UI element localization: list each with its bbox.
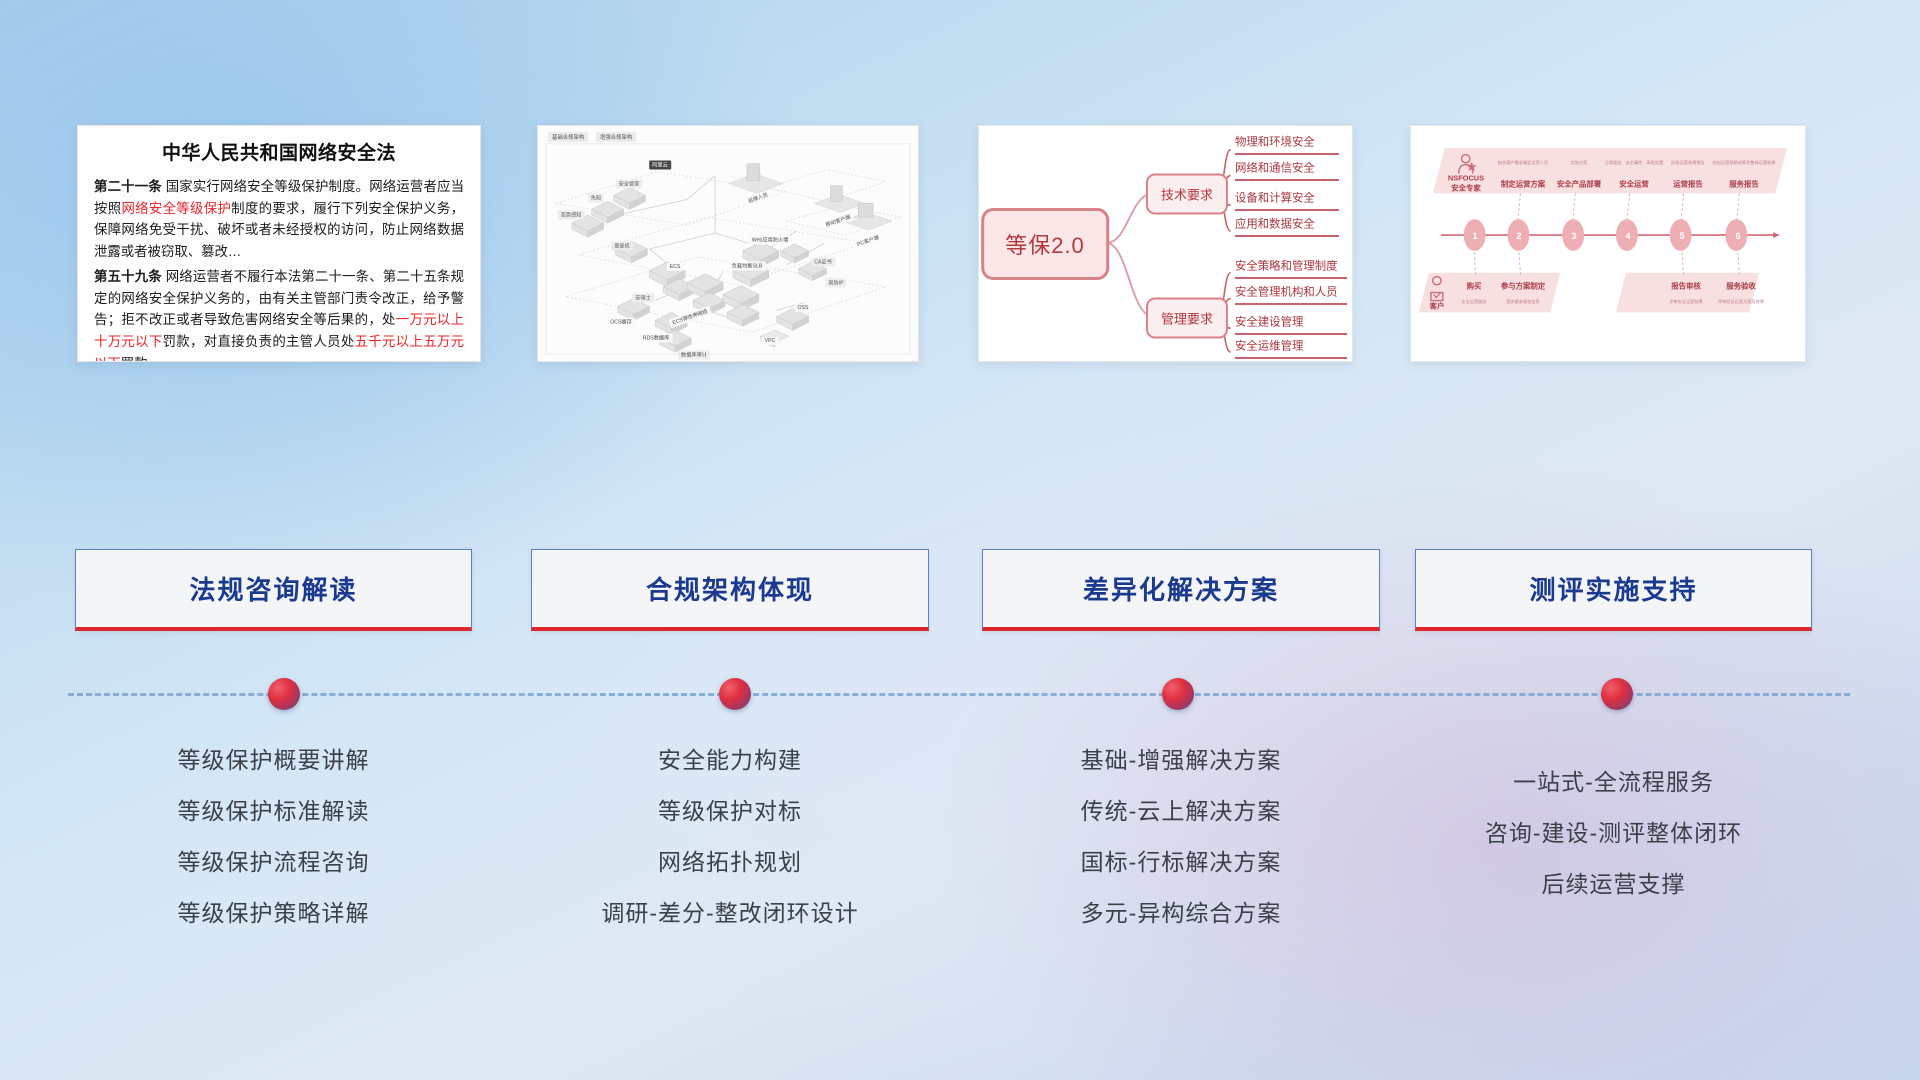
nsfocus-step-2: 2	[1516, 231, 1521, 241]
list-item: 基础-增强解决方案	[982, 735, 1380, 786]
arch-node-db-audit: 数据库审计	[678, 351, 710, 360]
nsfocus-timeline: NSFOCUS 安全专家 客户 结合客户需求确定运营人员 制定运营方案 实施方案…	[1411, 126, 1805, 361]
law-article-21: 第二十一条 国家实行网络安全等级保护制度。网络运营者应当按照网络安全等级保护制度…	[94, 176, 464, 263]
nsfocus-top-title-3: 安全运营	[1619, 179, 1649, 190]
list-item: 安全能力构建	[531, 735, 929, 786]
section-title-label-1: 法规咨询解读	[189, 570, 357, 607]
section-title-box-4[interactable]: 测评实施支持	[1415, 549, 1812, 631]
nsfocus-top-sub-2: 实施方案	[1571, 160, 1588, 166]
card-nsfocus-process: NSFOCUS 安全专家 客户 结合客户需求确定运营人员 制定运营方案 实施方案…	[1410, 125, 1806, 362]
arch-node-rds: RDS数据库	[640, 334, 673, 343]
nsfocus-brand-sub: 安全专家	[1451, 183, 1481, 194]
arch-node-slb: 负载均衡SLB	[729, 262, 766, 271]
nsfocus-bottom-title-2: 参与方案制定	[1501, 281, 1545, 292]
nsfocus-step-4: 4	[1625, 231, 1630, 241]
arch-node-oss: OSS	[795, 304, 812, 312]
nsfocus-top-sub-4: 阶段运营效果报告	[1671, 160, 1705, 166]
arch-node-bastion: 堡垒机	[611, 242, 633, 251]
mindmap-leaf-underline	[1235, 235, 1339, 237]
list-item: 后续运营支撑	[1415, 859, 1812, 910]
nsfocus-bottom-sub-3: 评审安全运营效果	[1669, 299, 1703, 305]
arch-node-waf: Web应用防火墙	[749, 236, 792, 245]
nsfocus-top-title-2: 安全产品部署	[1557, 179, 1601, 190]
nsfocus-step-5: 5	[1679, 231, 1684, 241]
nsfocus-bottom-title-1: 购买	[1467, 281, 1482, 292]
mindmap: 等保2.0 技术要求 管理要求 物理和环境安全 网络和通信安全 设备和计算安全 …	[979, 126, 1352, 361]
mindmap-leaf-underline	[1235, 179, 1339, 181]
mindmap-leaf-underline	[1235, 333, 1347, 335]
card-compliance-architecture: 基础合规架构 增强合规架构 阿里云 安全管家 先知 态势感知 堡垒机 ECS 安…	[537, 125, 919, 362]
nsfocus-brand: NSFOCUS	[1448, 174, 1484, 183]
section-items-2: 安全能力构建 等级保护对标 网络拓扑规划 调研-差分-整改闭环设计	[531, 735, 929, 939]
list-item: 多元-异构综合方案	[982, 888, 1380, 939]
list-item: 一站式-全流程服务	[1415, 757, 1812, 808]
nsfocus-step-3: 3	[1571, 231, 1576, 241]
nsfocus-bottom-sub-4: 评审验证运营方案及效果	[1718, 299, 1764, 305]
list-item: 调研-差分-整改闭环设计	[531, 888, 929, 939]
arch-node-security-steward: 安全管家	[616, 180, 643, 189]
list-item: 等级保护概要讲解	[75, 735, 472, 786]
section-title-label-3: 差异化解决方案	[1083, 570, 1279, 607]
section-title-label-4: 测评实施支持	[1529, 570, 1697, 607]
nsfocus-bottom-sub-2: 提供基本现状信息	[1506, 299, 1540, 305]
nsfocus-bottom-title-4: 服务验收	[1726, 281, 1756, 292]
nsfocus-step-1: 1	[1472, 231, 1477, 241]
arch-node-anqishi: 安骑士	[632, 294, 654, 303]
law-document: 中华人民共和国网络安全法 第二十一条 国家实行网络安全等级保护制度。网络运营者应…	[78, 126, 480, 362]
mindmap-leaf-underline	[1235, 209, 1339, 211]
arch-node-anti-ddos-ip: 高防IP	[825, 279, 846, 288]
card-djcp-mindmap: 等保2.0 技术要求 管理要求 物理和环境安全 网络和通信安全 设备和计算安全 …	[978, 125, 1353, 362]
mindmap-leaf-network-comm: 网络和通信安全	[1235, 160, 1315, 179]
mindmap-leaf-underline	[1235, 357, 1347, 359]
list-item: 咨询-建设-测评整体闭环	[1415, 808, 1812, 859]
law-article-59: 第五十九条 网络运营者不履行本法第二十一条、第二十五条规定的网络安全保护义务的，…	[94, 266, 464, 362]
timeline	[68, 692, 1850, 696]
arch-node-aliyun: 阿里云	[649, 161, 671, 170]
section-items-row: 等级保护概要讲解 等级保护标准解读 等级保护流程咨询 等级保护策略详解 安全能力…	[0, 735, 1920, 955]
timeline-dashed-line	[68, 693, 1850, 696]
law-article-21-highlight: 网络安全等级保护	[121, 201, 231, 216]
section-title-label-2: 合规架构体现	[646, 570, 814, 607]
mindmap-branch-management: 管理要求	[1146, 298, 1228, 339]
mindmap-leaf-device-compute: 设备和计算安全	[1235, 190, 1315, 209]
law-article-59-text-b: 罚款，对直接负责的主管人员处	[163, 334, 355, 349]
mindmap-leaf-underline	[1235, 277, 1347, 279]
nsfocus-top-sub-1: 结合客户需求确定运营人员	[1498, 160, 1548, 166]
law-article-59-label: 第五十九条	[94, 269, 162, 284]
list-item: 传统-云上解决方案	[982, 786, 1380, 837]
mindmap-leaf-ops-mgmt: 安全运维管理	[1235, 338, 1303, 357]
arch-header-enhanced: 增强合规架构	[596, 132, 636, 142]
card-cybersecurity-law: 中华人民共和国网络安全法 第二十一条 国家实行网络安全等级保护制度。网络运营者应…	[77, 125, 481, 362]
mindmap-branch-technical: 技术要求	[1146, 174, 1228, 215]
architecture-diagram: 基础合规架构 增强合规架构 阿里云 安全管家 先知 态势感知 堡垒机 ECS 安…	[538, 126, 918, 361]
arch-node-xianzhi: 先知	[588, 194, 604, 203]
nsfocus-top-title-4: 运营报告	[1673, 179, 1703, 190]
arch-node-situation-awareness: 态势感知	[558, 211, 585, 220]
list-item: 等级保护策略详解	[75, 888, 472, 939]
law-title: 中华人民共和国网络安全法	[94, 138, 464, 165]
timeline-dot-2[interactable]	[719, 678, 751, 710]
timeline-dot-4[interactable]	[1601, 678, 1633, 710]
nsfocus-top-title-5: 服务报告	[1729, 179, 1759, 190]
section-title-box-2[interactable]: 合规架构体现	[531, 549, 929, 631]
list-item: 国标-行标解决方案	[982, 837, 1380, 888]
mindmap-leaf-physical-env: 物理和环境安全	[1235, 134, 1315, 153]
nsfocus-top-sub-3: 日常巡检、安全事件、高危处置	[1605, 160, 1664, 166]
nsfocus-bottom-title-3: 报告审核	[1671, 281, 1701, 292]
mindmap-leaf-org-personnel: 安全管理机构和人员	[1235, 284, 1338, 303]
list-item: 等级保护标准解读	[75, 786, 472, 837]
timeline-dot-3[interactable]	[1162, 678, 1194, 710]
mindmap-leaf-app-data: 应用和数据安全	[1235, 216, 1315, 235]
mindmap-leaf-underline	[1235, 153, 1339, 155]
list-item: 等级保护对标	[531, 786, 929, 837]
mindmap-leaf-construction-mgmt: 安全建设管理	[1235, 314, 1303, 333]
mindmap-leaf-policy-system: 安全策略和管理制度	[1235, 258, 1338, 277]
timeline-dot-1[interactable]	[268, 678, 300, 710]
arch-node-ca-cert: CA证书	[811, 258, 835, 267]
section-titles-row: 法规咨询解读 合规架构体现 差异化解决方案 测评实施支持	[0, 549, 1920, 631]
section-items-4: 一站式-全流程服务 咨询-建设-测评整体闭环 后续运营支撑	[1415, 735, 1812, 910]
list-item: 等级保护流程咨询	[75, 837, 472, 888]
section-items-3: 基础-增强解决方案 传统-云上解决方案 国标-行标解决方案 多元-异构综合方案	[982, 735, 1380, 939]
arch-node-ocs-cache: OCS缓存	[607, 318, 635, 327]
section-title-box-3[interactable]: 差异化解决方案	[982, 549, 1380, 631]
section-title-box-1[interactable]: 法规咨询解读	[75, 549, 472, 631]
arch-node-ecs: ECS	[667, 263, 684, 271]
mindmap-leaf-underline	[1235, 303, 1347, 305]
law-article-59-text-c: 罚款。	[121, 356, 161, 362]
reference-cards-row: 中华人民共和国网络安全法 第二十一条 国家实行网络安全等级保护制度。网络运营者应…	[0, 125, 1920, 365]
arch-node-vpc: VPC	[762, 337, 779, 345]
nsfocus-bottom-sub-1: 安全运营服务	[1461, 299, 1486, 305]
nsfocus-top-sub-5: 给出运营预期成果及整体运营效果	[1713, 160, 1776, 166]
nsfocus-customer: 客户	[1430, 301, 1445, 312]
law-article-21-label: 第二十一条	[94, 179, 162, 194]
section-items-1: 等级保护概要讲解 等级保护标准解读 等级保护流程咨询 等级保护策略详解	[75, 735, 472, 939]
list-item: 网络拓扑规划	[531, 837, 929, 888]
arch-header-basic: 基础合规架构	[548, 132, 588, 142]
nsfocus-top-title-1: 制定运营方案	[1501, 179, 1545, 190]
nsfocus-step-6: 6	[1735, 231, 1740, 241]
mindmap-root: 等保2.0	[981, 208, 1109, 280]
